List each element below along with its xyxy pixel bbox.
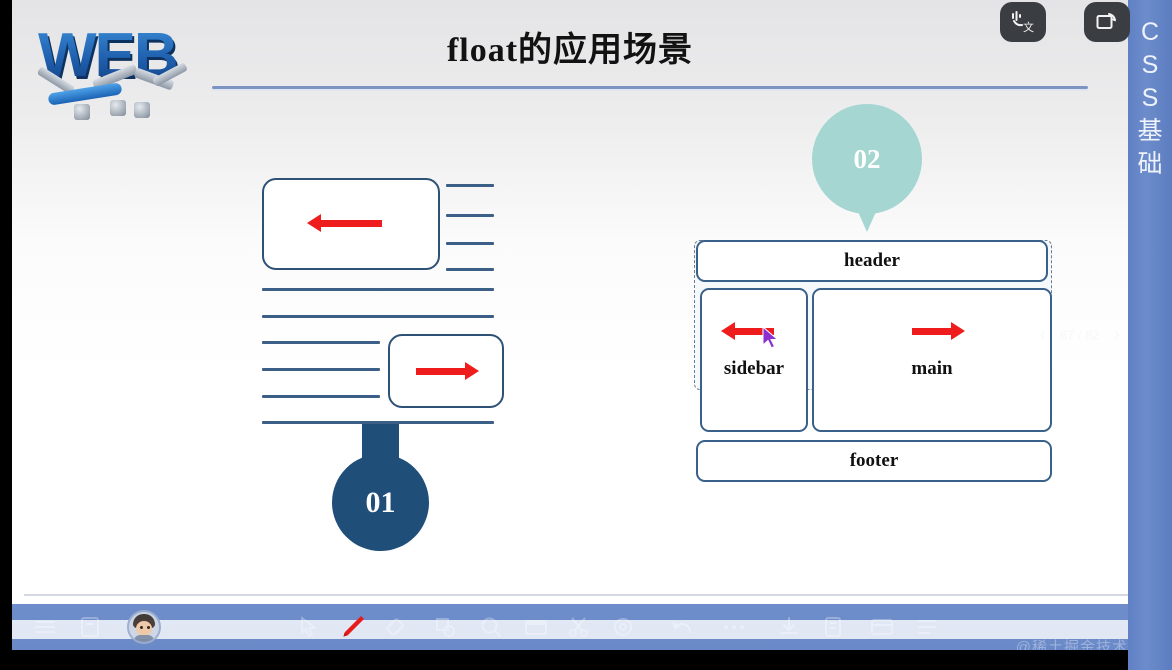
arrow-right-icon [416,368,466,375]
side-tab-char: S [1142,82,1159,115]
badge-01: 01 [332,454,429,551]
shapes-icon[interactable] [434,616,456,638]
badge-02-label: 02 [854,144,881,175]
avatar-body [134,635,154,644]
slide-title: float的应用场景 [12,22,1128,71]
css-side-tab[interactable]: C S S 基 础 [1128,0,1172,670]
avatar[interactable] [127,610,161,644]
side-tab-char: S [1142,49,1159,82]
layout-diagram: header sidebar main footer [694,240,1056,480]
letterbox-left [0,0,12,604]
nut-icon [110,100,126,116]
note-icon[interactable] [824,616,844,638]
annotation-toolbar[interactable] [12,604,1172,650]
text-line [446,184,494,187]
layout-footer-box: footer [696,440,1052,482]
target-icon[interactable] [612,616,634,638]
page-navigation[interactable]: ‹ 67 / 82 › [1040,326,1120,345]
side-tab-char: 基 [1137,115,1162,148]
svg-text:文: 文 [1023,20,1034,33]
text-line [262,288,494,291]
text-line [446,268,494,271]
rectangle-icon[interactable] [524,617,548,637]
float-box-right [388,334,504,408]
prev-page-button[interactable]: ‹ [1040,326,1046,345]
more-icon[interactable] [722,622,746,632]
arrow-right-icon [912,328,952,335]
layout-main-box: main [812,288,1052,432]
letterbox-bottom [0,650,1172,670]
text-line [262,341,380,344]
avatar-eye [147,626,150,629]
layout-sidebar-box: sidebar [700,288,808,432]
text-line [446,242,494,245]
picture-in-picture-icon [1095,11,1119,33]
layout-header-label: header [844,250,900,272]
text-line [446,214,494,217]
magnifier-icon[interactable] [480,616,502,638]
subtitle-button[interactable]: 文 [1000,2,1046,42]
layout-sidebar-label: sidebar [702,358,806,380]
subtitle-icon: 文 [1011,11,1035,33]
window-icon[interactable] [870,617,894,637]
layout-footer-label: footer [850,450,899,472]
video-player: WEB float的应用场景 [0,0,1172,670]
avatar-eye [140,626,143,629]
nut-icon [74,104,90,120]
scissors-icon[interactable] [568,616,590,638]
side-tab-char: C [1141,16,1159,49]
text-line [262,315,494,318]
menu-icon[interactable] [34,618,56,636]
list-icon[interactable] [916,618,938,636]
picture-in-picture-button[interactable] [1084,2,1130,42]
slide-bottom-rule [24,594,1128,596]
text-line [262,368,380,371]
page-indicator: 67 / 82 [1060,328,1100,343]
layout-main-label: main [814,358,1050,380]
badge-01-label: 01 [366,486,396,520]
layout-header-box: header [696,240,1048,282]
next-page-button[interactable]: › [1114,326,1120,345]
float-box-left [262,178,440,270]
pointer-icon[interactable] [300,616,318,638]
nut-icon [134,102,150,118]
left-float-diagram [250,178,510,448]
arrow-left-icon [320,220,382,227]
pencil-icon[interactable] [340,614,366,640]
document-icon[interactable] [80,616,100,638]
undo-icon[interactable] [670,617,694,637]
title-divider-shadow [212,89,1088,91]
side-tab-char: 础 [1137,148,1162,181]
eraser-icon[interactable] [384,616,406,638]
badge-02-tail [851,196,883,232]
slide-canvas: WEB float的应用场景 [12,0,1128,604]
text-line [262,395,380,398]
save-icon[interactable] [778,616,800,638]
